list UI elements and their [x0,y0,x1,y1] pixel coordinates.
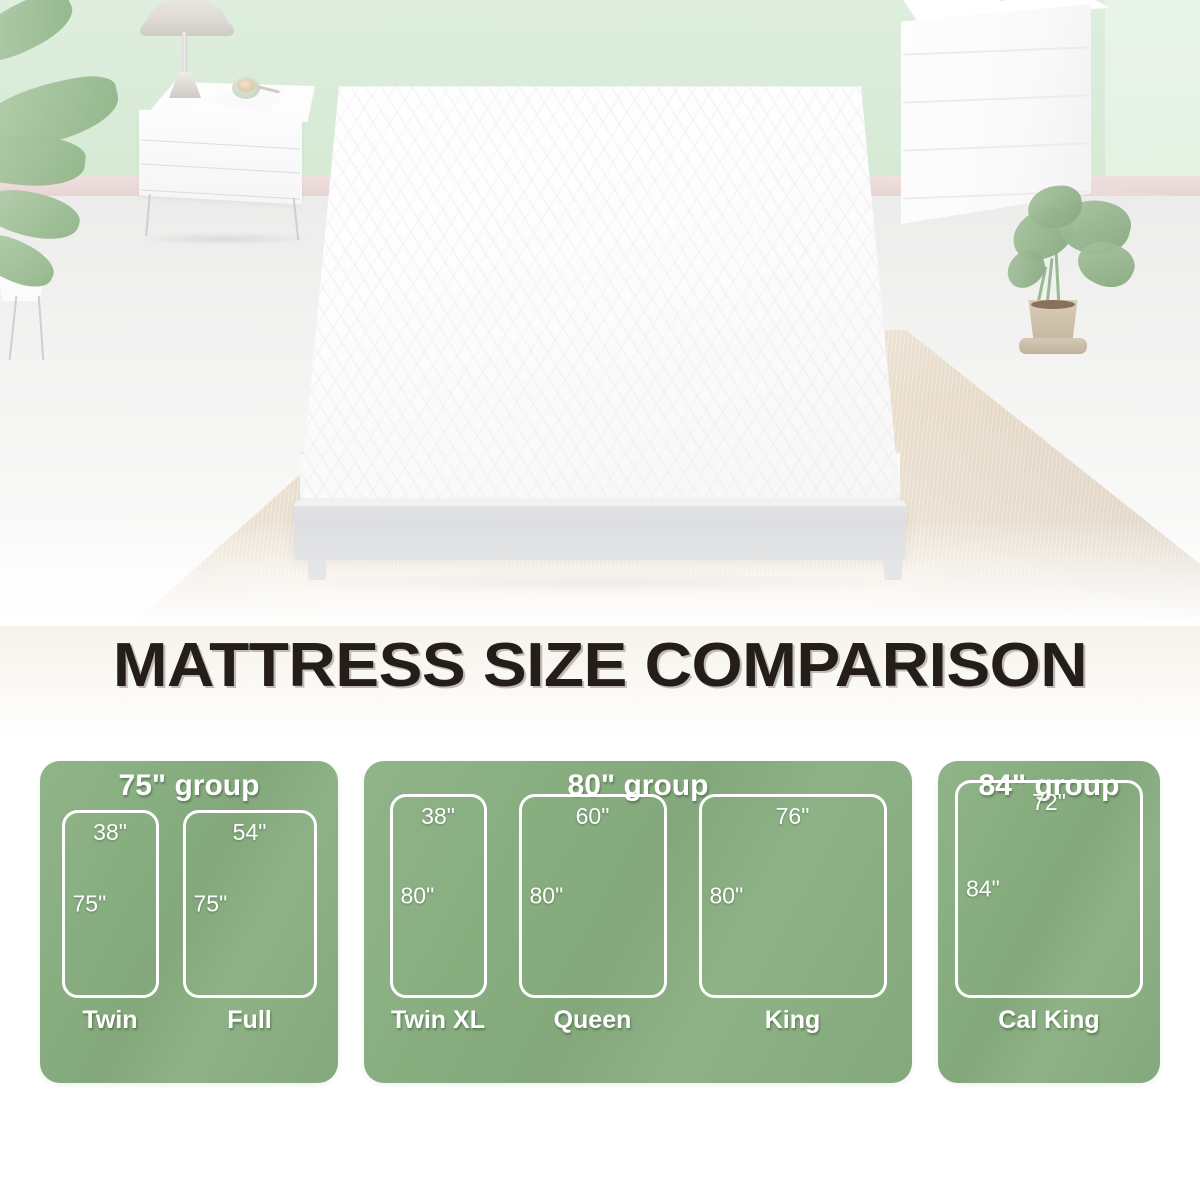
group-beds-80: 38" 80" Twin XL 60" 80" Queen 76" 80" [364,817,912,1083]
bed-rect-twin: 38" 75" [62,810,159,998]
plant-soil [1031,300,1075,309]
group-panel-84[interactable]: 84" group 72" 84" Cal King [938,761,1160,1083]
bed-length-label: 84" [966,876,1000,903]
bed-length-label: 75" [194,891,228,918]
bed-length-label: 80" [401,883,435,910]
group-panel-80[interactable]: 80" group 38" 80" Twin XL 60" 80" Queen [364,761,912,1083]
bed-name-label: Full [227,1006,271,1035]
size-groups: 75" group 38" 75" Twin 54" 75" Full [40,761,1160,1083]
group-heading-75: 75" group [40,769,338,803]
bed-item-full[interactable]: 54" 75" Full [183,810,317,1035]
nightstand-shadow [135,232,315,246]
bed-name-label: King [765,1006,821,1035]
bed-width-label: 72" [958,789,1140,816]
bed-width-label: 54" [186,819,314,846]
bed-name-label: Cal King [998,1006,1099,1035]
bed-item-twin[interactable]: 38" 75" Twin [62,810,159,1035]
mattress-texture [300,78,900,498]
bed-width-label: 38" [65,819,156,846]
bed-rect-king: 76" 80" [699,794,887,998]
bed-length-label: 80" [530,883,564,910]
bed-name-label: Twin [82,1006,137,1035]
bed-item-twin-xl[interactable]: 38" 80" Twin XL [390,794,487,1035]
group-beds-84: 72" 84" Cal King [938,817,1160,1083]
plant-saucer [1019,338,1087,354]
bed-rect-twin-xl: 38" 80" [390,794,487,998]
title-band: MATTRESS SIZE COMPARISON [0,626,1200,736]
nightstand [125,82,315,247]
scene-fade [0,520,1200,625]
group-beds-75: 38" 75" Twin 54" 75" Full [40,817,338,1083]
nightstand-leg [145,194,151,236]
bed-width-label: 76" [702,803,884,830]
bed-length-label: 80" [710,883,744,910]
bed-name-label: Queen [554,1006,632,1035]
bed-width-label: 60" [522,803,664,830]
cup-contents [237,79,255,92]
bed-width-label: 38" [393,803,484,830]
group-panel-75[interactable]: 75" group 38" 75" Twin 54" 75" Full [40,761,338,1083]
lamp-shade-lower [140,14,234,36]
bed-rect-full: 54" 75" [183,810,317,998]
bed-item-queen[interactable]: 60" 80" Queen [519,794,667,1035]
bed-name-label: Twin XL [391,1006,485,1035]
bed-rect-cal-king: 72" 84" [955,780,1143,998]
bed-length-label: 75" [73,891,107,918]
mattress-size-comparison-page: MATTRESS SIZE COMPARISON 75" group 38" 7… [0,0,1200,1200]
bedroom-photo [0,0,1200,625]
bed-item-king[interactable]: 76" 80" King [699,794,887,1035]
mattress [300,78,900,498]
bed-rect-queen: 60" 80" [519,794,667,998]
box-spring-highlight [294,500,906,506]
bed-item-cal-king[interactable]: 72" 84" Cal King [955,780,1143,1035]
page-title: MATTRESS SIZE COMPARISON [0,630,1200,701]
